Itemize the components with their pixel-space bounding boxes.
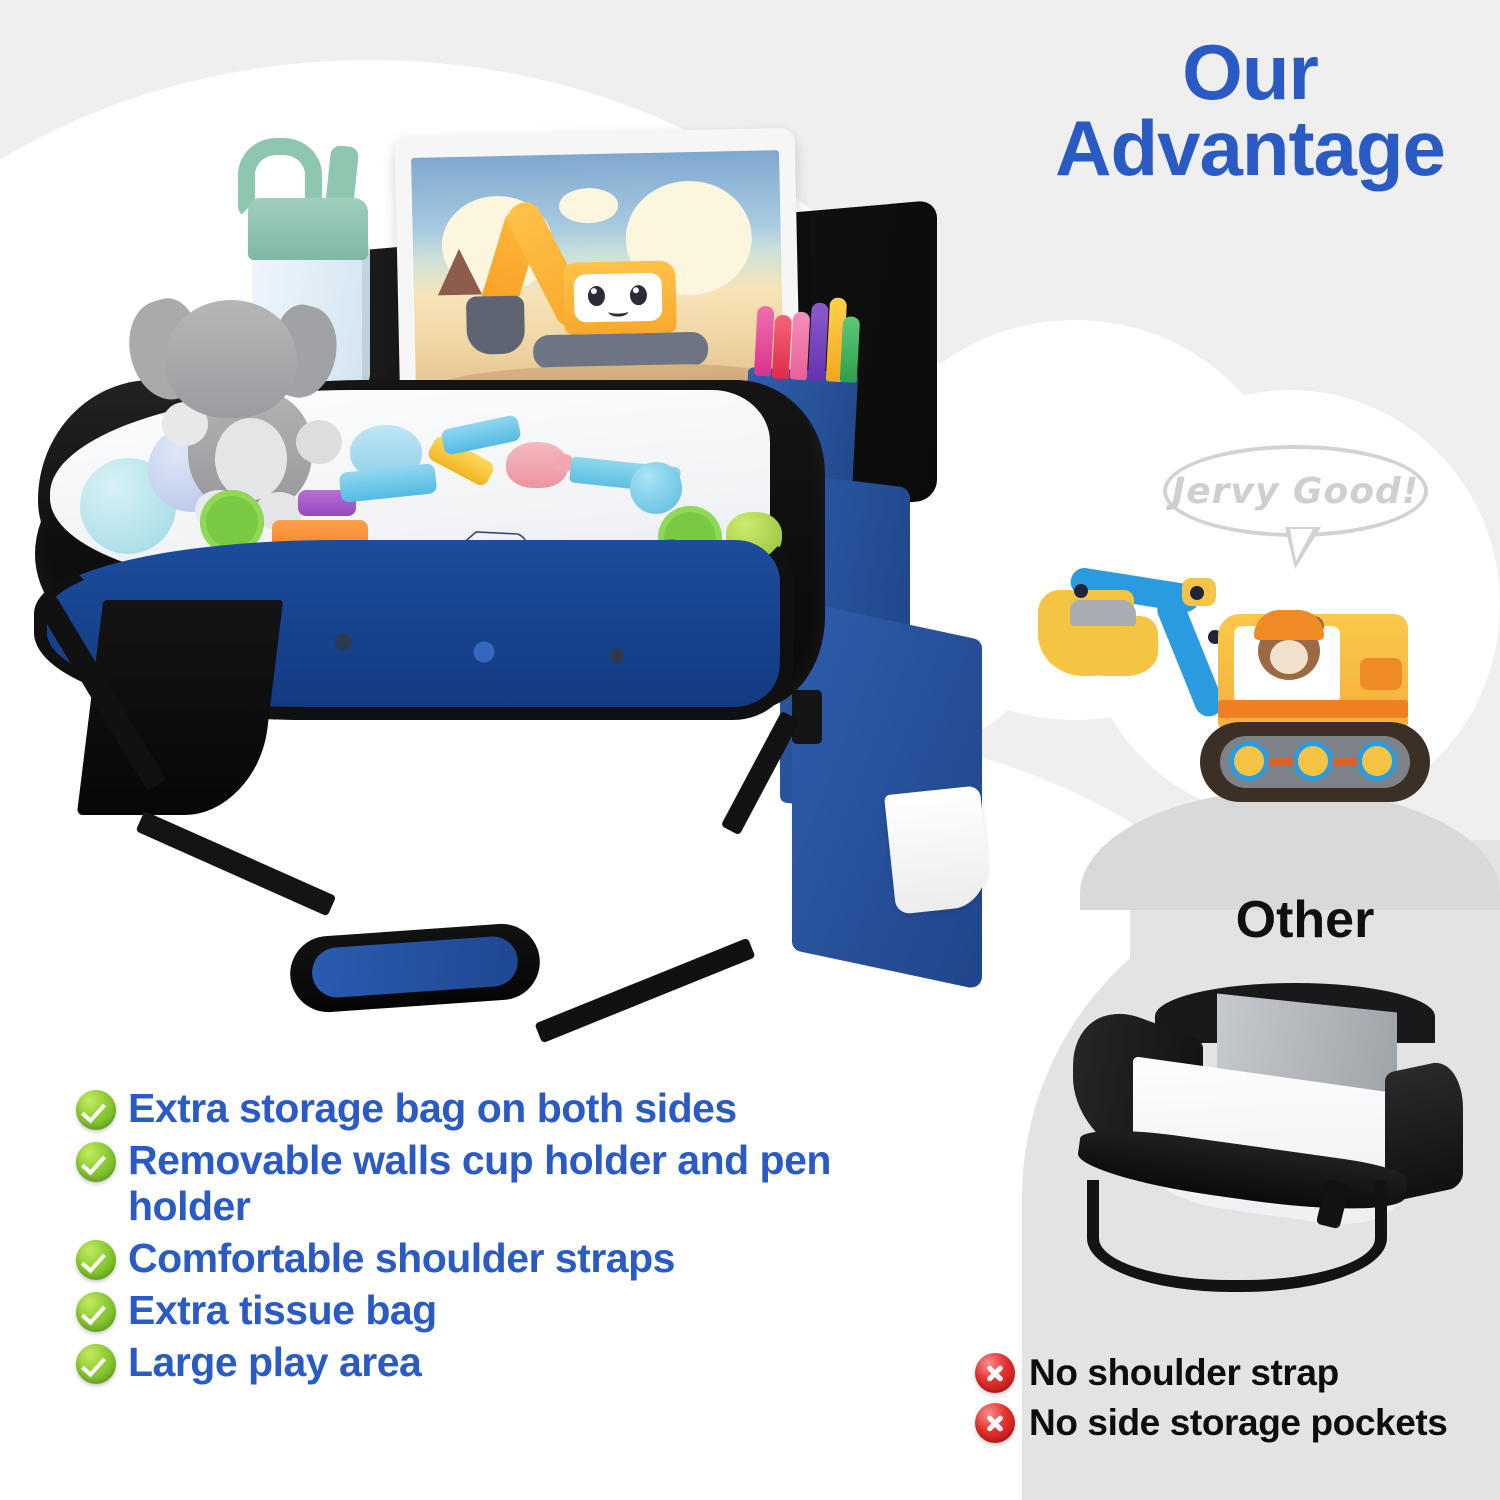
benefit-label: Extra storage bag on both sides <box>128 1086 737 1132</box>
page-title: Our Advantage <box>1010 34 1490 187</box>
list-item: Extra storage bag on both sides <box>76 1086 906 1132</box>
check-circle-icon <box>76 1344 116 1384</box>
excavator-face <box>574 273 663 323</box>
competitor-tray-photo <box>1055 975 1475 1335</box>
list-item: No side storage pockets <box>975 1402 1485 1444</box>
shoulder-strap-segment <box>136 811 337 917</box>
list-item: Comfortable shoulder straps <box>76 1236 906 1282</box>
marker-pen <box>772 315 792 380</box>
elephant-plush-arm <box>296 420 342 464</box>
bear-face-icon <box>1270 640 1308 674</box>
check-circle-icon <box>76 1142 116 1182</box>
eye-icon <box>588 286 605 306</box>
cross-circle-icon <box>975 1403 1015 1443</box>
check-circle-icon <box>76 1240 116 1280</box>
list-item: Removable walls cup holder and pen holde… <box>76 1138 906 1230</box>
cloud-shape <box>559 188 619 224</box>
padded-shoulder-pad <box>288 921 543 1014</box>
marker-pen <box>840 316 860 383</box>
pink-pig-toy <box>506 442 568 488</box>
con-label: No shoulder strap <box>1029 1352 1339 1394</box>
pivot-pin-icon <box>1074 584 1088 598</box>
kids-travel-tray-photo <box>10 50 1020 1060</box>
speech-bubble: Jervy Good! <box>1163 445 1428 537</box>
list-item: Extra tissue bag <box>76 1288 906 1334</box>
list-item: No shoulder strap <box>975 1352 1485 1394</box>
shoulder-pad-fabric <box>310 935 519 999</box>
tree-icon <box>437 248 482 295</box>
benefit-label: Comfortable shoulder straps <box>128 1236 675 1282</box>
excavator-wheel <box>1362 746 1392 776</box>
excavator-stripe <box>1218 700 1408 718</box>
eye-icon <box>630 285 647 305</box>
strap-buckle <box>792 690 822 744</box>
title-line-2: Advantage <box>1010 110 1490 186</box>
benefit-label: Removable walls cup holder and pen holde… <box>128 1138 906 1230</box>
title-line-1: Our <box>1182 28 1318 116</box>
speech-bubble-text: Jervy Good! <box>1167 449 1424 533</box>
blue-spin-toy <box>630 462 682 514</box>
pivot-pin-icon <box>1190 586 1204 600</box>
check-circle-icon <box>76 1292 116 1332</box>
elephant-plush-head <box>165 300 297 418</box>
shoulder-strap-segment <box>534 938 755 1044</box>
check-circle-icon <box>76 1090 116 1130</box>
benefit-label: Extra tissue bag <box>128 1288 437 1334</box>
list-item: Large play area <box>76 1340 906 1386</box>
elephant-plush-belly <box>215 418 287 500</box>
benefits-list: Extra storage bag on both sides Removabl… <box>76 1086 906 1391</box>
smile-icon <box>608 306 628 316</box>
excavator-mascot-illustration <box>1030 570 1480 870</box>
excavator-bucket <box>466 296 525 355</box>
other-section-title: Other <box>1140 890 1470 950</box>
excavator-grill <box>1360 658 1402 690</box>
water-bottle-cap <box>248 198 368 260</box>
other-cons-list: No shoulder strap No side storage pocket… <box>975 1352 1485 1452</box>
bear-helmet-icon <box>1254 610 1324 640</box>
excavator-bucket-load <box>1070 600 1136 626</box>
benefit-label: Large play area <box>128 1340 421 1386</box>
marker-pen <box>790 311 811 380</box>
tissue-sheet <box>884 785 992 914</box>
excavator-wheel <box>1298 746 1328 776</box>
cross-circle-icon <box>975 1353 1015 1393</box>
excavator-wheel <box>1234 746 1264 776</box>
speech-bubble-tail <box>1285 527 1321 569</box>
con-label: No side storage pockets <box>1029 1402 1448 1444</box>
